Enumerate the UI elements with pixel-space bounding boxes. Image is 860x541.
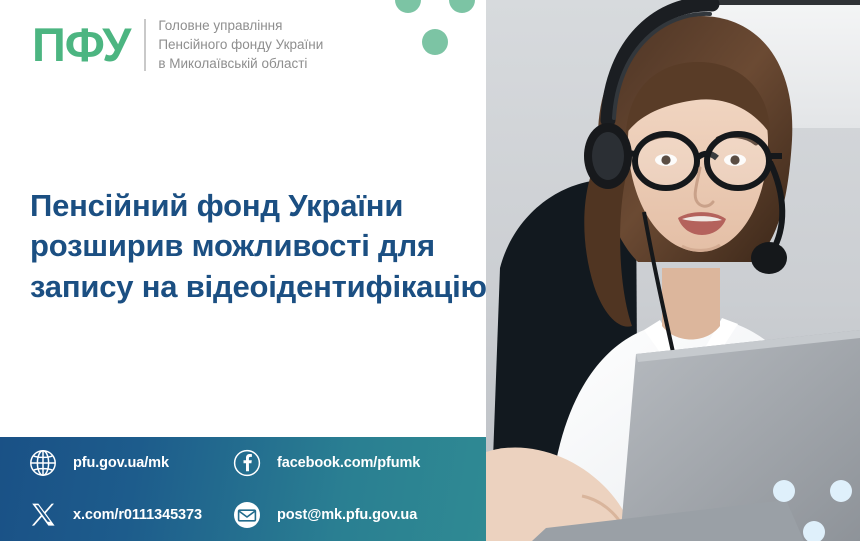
globe-icon: [26, 446, 60, 480]
facebook-label: facebook.com/pfumk: [277, 455, 420, 471]
contact-facebook[interactable]: facebook.com/pfumk: [218, 446, 486, 480]
x-twitter-icon: [26, 498, 60, 532]
x-twitter-label: x.com/r0111345373: [73, 507, 202, 523]
hero-photo: [486, 0, 860, 541]
contact-email[interactable]: post@mk.pfu.gov.ua: [218, 498, 486, 532]
org-line-2: Пенсійного фонду України: [158, 35, 323, 54]
promo-poster: ПФУ Головне управління Пенсійного фонду …: [0, 0, 860, 541]
headline-line-1: Пенсійний фонд України: [30, 186, 480, 226]
org-line-1: Головне управління: [158, 16, 323, 35]
contact-footer: pfu.gov.ua/mk facebook.com/pfumk x.com/r…: [0, 437, 486, 541]
envelope-icon: [230, 498, 264, 532]
pfu-logo-mark: ПФУ: [32, 21, 130, 68]
email-label: post@mk.pfu.gov.ua: [277, 507, 417, 523]
logo-divider: [144, 19, 146, 71]
headline-line-2: розширив можливості для: [30, 226, 480, 266]
organization-name: Головне управління Пенсійного фонду Укра…: [158, 16, 323, 73]
headline: Пенсійний фонд України розширив можливос…: [30, 186, 480, 307]
org-line-3: в Миколаївській області: [158, 54, 323, 73]
website-label: pfu.gov.ua/mk: [73, 455, 169, 471]
contact-x-twitter[interactable]: x.com/r0111345373: [0, 498, 218, 532]
contact-website[interactable]: pfu.gov.ua/mk: [0, 446, 218, 480]
brand-header: ПФУ Головне управління Пенсійного фонду …: [32, 16, 323, 73]
headline-line-3: запису на відеоідентифікацію: [30, 267, 480, 307]
facebook-icon: [230, 446, 264, 480]
